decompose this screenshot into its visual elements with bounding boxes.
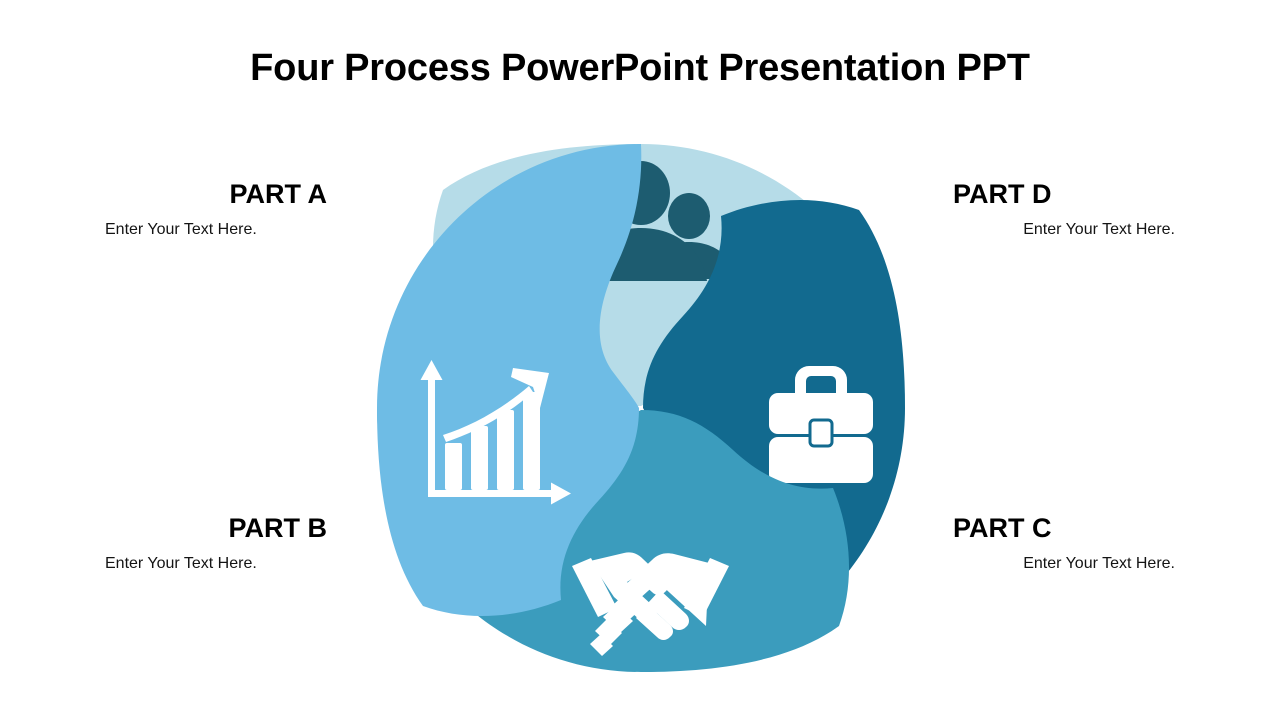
part-c-body: Enter Your Text Here. (945, 553, 1175, 576)
part-block-d: PART D Enter Your Text Here. (945, 180, 1175, 241)
part-d-body: Enter Your Text Here. (945, 219, 1175, 242)
part-a-heading: PART A (105, 180, 335, 210)
part-c-heading: PART C (945, 514, 1175, 544)
page-title: Four Process PowerPoint Presentation PPT (0, 47, 1280, 90)
part-d-heading: PART D (945, 180, 1175, 210)
part-block-a: PART A Enter Your Text Here. (105, 180, 335, 241)
four-part-pinwheel-diagram (371, 138, 911, 678)
part-b-heading: PART B (105, 514, 335, 544)
part-b-body: Enter Your Text Here. (105, 553, 335, 576)
part-block-b: PART B Enter Your Text Here. (105, 514, 335, 575)
part-block-c: PART C Enter Your Text Here. (945, 514, 1175, 575)
slide-canvas: Four Process PowerPoint Presentation PPT (0, 0, 1280, 720)
part-a-body: Enter Your Text Here. (105, 219, 335, 242)
